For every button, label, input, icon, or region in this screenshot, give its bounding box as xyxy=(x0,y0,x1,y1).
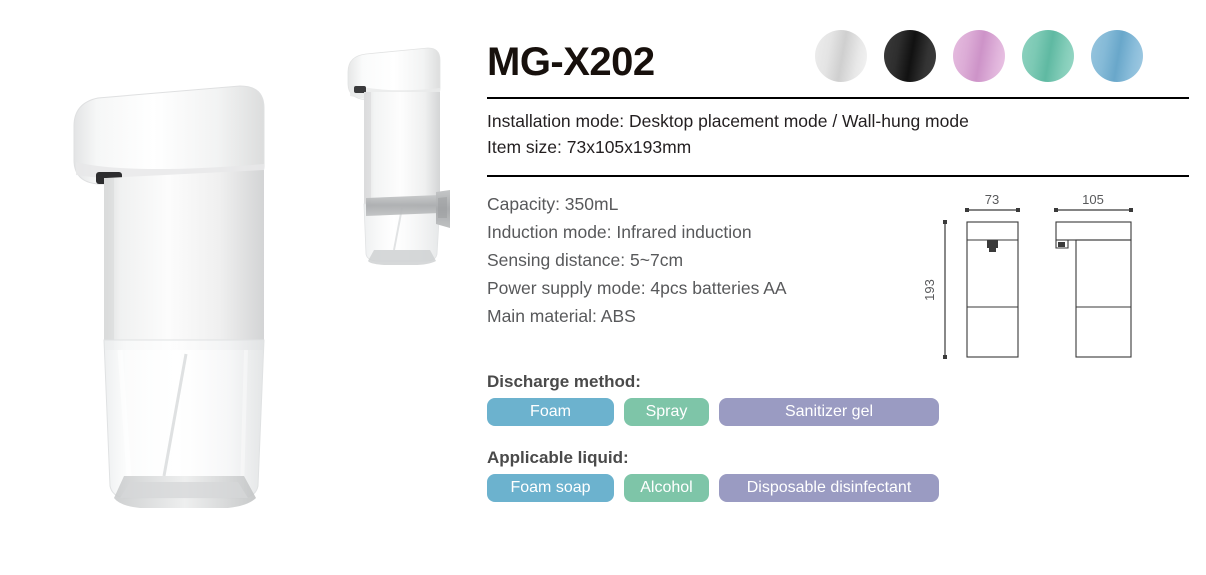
badge-spray[interactable]: Spray xyxy=(624,398,709,426)
color-swatch-mint-green[interactable] xyxy=(1022,30,1074,82)
technical-drawing: 73 105 193 xyxy=(912,180,1197,375)
spec-capacity: Capacity: 350mL xyxy=(487,190,917,218)
color-swatch-blue[interactable] xyxy=(1091,30,1143,82)
color-swatch-white-silver[interactable] xyxy=(815,30,867,82)
spec-sensing-distance: Sensing distance: 5~7cm xyxy=(487,246,917,274)
badge-foam[interactable]: Foam xyxy=(487,398,614,426)
color-swatch-list xyxy=(815,30,1143,82)
product-photo-wall-hung xyxy=(340,32,450,272)
discharge-method-heading: Discharge method: xyxy=(487,372,939,392)
specification-list: Capacity: 350mL Induction mode: Infrared… xyxy=(487,190,917,330)
applicable-liquid-group: Applicable liquid: Foam soap Alcohol Dis… xyxy=(487,448,939,502)
installation-mode-line: Installation mode: Desktop placement mod… xyxy=(487,108,1187,134)
product-spec-sheet: MG-X202 Installation mode: Desktop place… xyxy=(0,0,1206,575)
color-swatch-pink[interactable] xyxy=(953,30,1005,82)
applicable-liquid-heading: Applicable liquid: xyxy=(487,448,939,468)
badge-alcohol[interactable]: Alcohol xyxy=(624,474,709,502)
divider-middle xyxy=(487,175,1189,177)
dimension-label-height: 193 xyxy=(922,279,937,301)
spec-induction-mode: Induction mode: Infrared induction xyxy=(487,218,917,246)
dimension-label-side-width: 105 xyxy=(1082,192,1104,207)
discharge-method-group: Discharge method: Foam Spray Sanitizer g… xyxy=(487,372,939,426)
spec-power-supply-mode: Power supply mode: 4pcs batteries AA xyxy=(487,274,917,302)
spec-main-material: Main material: ABS xyxy=(487,302,917,330)
color-swatch-black[interactable] xyxy=(884,30,936,82)
dimension-label-front-width: 73 xyxy=(985,192,999,207)
badge-foam-soap[interactable]: Foam soap xyxy=(487,474,614,502)
product-photo-desktop xyxy=(68,78,286,530)
badge-sanitizer-gel[interactable]: Sanitizer gel xyxy=(719,398,939,426)
item-size-line: Item size: 73x105x193mm xyxy=(487,134,1187,160)
divider-top xyxy=(487,97,1189,99)
discharge-method-badge-row: Foam Spray Sanitizer gel xyxy=(487,398,939,426)
badge-disposable-disinfectant[interactable]: Disposable disinfectant xyxy=(719,474,939,502)
installation-block: Installation mode: Desktop placement mod… xyxy=(487,108,1187,160)
applicable-liquid-badge-row: Foam soap Alcohol Disposable disinfectan… xyxy=(487,474,939,502)
product-model-title: MG-X202 xyxy=(487,42,655,82)
